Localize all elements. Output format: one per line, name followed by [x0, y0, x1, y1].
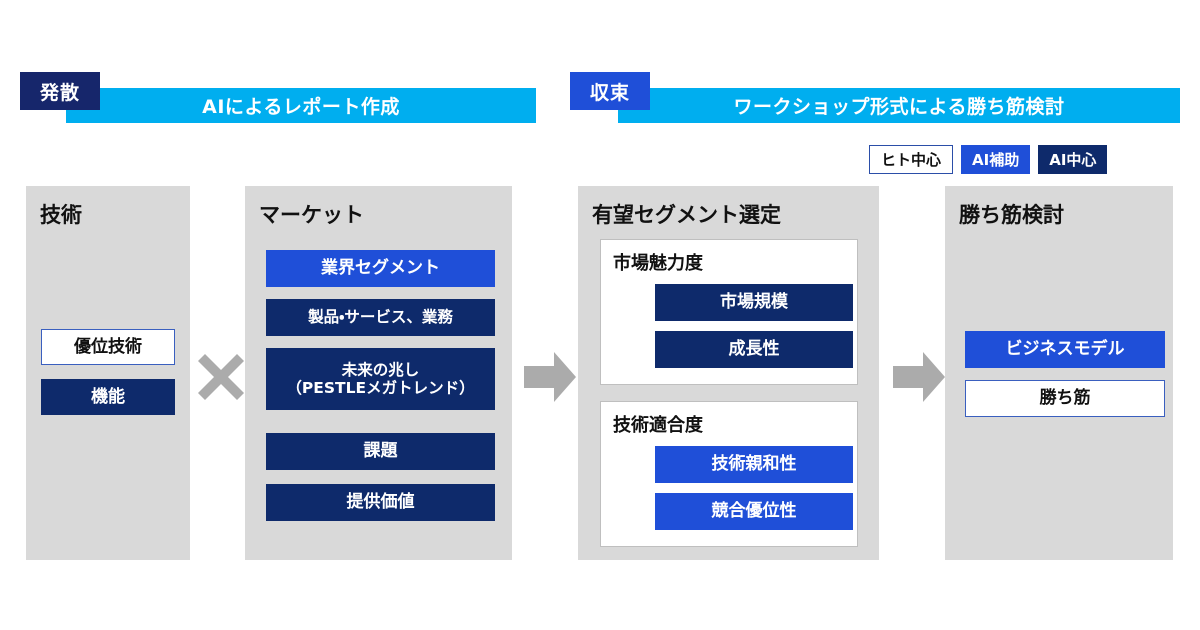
item-market-attractiveness-0-label: 市場規模 — [720, 292, 788, 312]
item-winning-strategy-0: ビジネスモデル — [965, 331, 1165, 368]
item-market-attractiveness-1: 成長性 — [655, 331, 853, 368]
item-winning-strategy-1: 勝ち筋 — [965, 380, 1165, 417]
item-market-2: 未来の兆し （PESTLEメガトレンド） — [266, 348, 495, 410]
item-market-1: 製品・サービス、業務 — [266, 299, 495, 336]
arrow-right-icon-1 — [524, 350, 576, 404]
item-technology-1-label: 機能 — [91, 387, 125, 407]
legend-item-ai-assist: AI補助 — [961, 145, 1030, 174]
column-market-title: マーケット — [259, 199, 364, 229]
item-market-attractiveness-0: 市場規模 — [655, 284, 853, 321]
subpanel-market-attractiveness: 市場魅力度 市場規模 成長性 — [600, 239, 858, 385]
item-market-2-label: 未来の兆し （PESTLEメガトレンド） — [286, 361, 474, 398]
item-market-3-label: 課題 — [364, 441, 398, 461]
item-market-1-label: 製品・サービス、業務 — [308, 308, 453, 326]
legend-item-ai-center-label: AI中心 — [1049, 149, 1096, 170]
subpanel-technology-fit-title: 技術適合度 — [613, 411, 703, 437]
item-winning-strategy-0-label: ビジネスモデル — [1006, 339, 1125, 359]
legend-item-ai-center: AI中心 — [1038, 145, 1107, 174]
column-segment-selection-title: 有望セグメント選定 — [592, 199, 781, 229]
column-segment-selection: 有望セグメント選定 市場魅力度 市場規模 成長性 技術適合度 技術親和性 競合優… — [578, 186, 879, 560]
item-market-attractiveness-1-label: 成長性 — [729, 339, 780, 359]
phase-bar-converge: ワークショップ形式による勝ち筋検討 — [618, 88, 1180, 123]
item-technology-fit-1-label: 競合優位性 — [712, 501, 797, 521]
phase-bar-diverge: AIによるレポート作成 — [66, 88, 536, 123]
item-technology-fit-1: 競合優位性 — [655, 493, 853, 530]
legend: ヒト中心 AI補助 AI中心 — [869, 145, 1107, 174]
column-winning-strategy-title: 勝ち筋検討 — [959, 199, 1064, 229]
column-winning-strategy: 勝ち筋検討 ビジネスモデル 勝ち筋 — [945, 186, 1173, 560]
legend-item-ai-assist-label: AI補助 — [972, 149, 1019, 170]
subpanel-technology-fit: 技術適合度 技術親和性 競合優位性 — [600, 401, 858, 547]
column-technology: 技術 優位技術 機能 — [26, 186, 190, 560]
item-technology-fit-0: 技術親和性 — [655, 446, 853, 483]
legend-item-human-label: ヒト中心 — [881, 149, 941, 170]
item-market-0-label: 業界セグメント — [321, 258, 440, 278]
phase-tag-diverge: 発散 — [20, 72, 100, 110]
column-market: マーケット 業界セグメント 製品・サービス、業務 未来の兆し （PESTLEメガ… — [245, 186, 512, 560]
item-market-3: 課題 — [266, 433, 495, 470]
item-technology-1: 機能 — [41, 379, 175, 415]
phase-tag-converge: 収束 — [570, 72, 650, 110]
diagram-canvas: AIによるレポート作成 発散 ワークショップ形式による勝ち筋検討 収束 ヒト中心… — [0, 0, 1200, 630]
phase-tag-diverge-label: 発散 — [40, 78, 80, 105]
item-market-4: 提供価値 — [266, 484, 495, 521]
phase-tag-converge-label: 収束 — [590, 78, 630, 105]
item-market-0: 業界セグメント — [266, 250, 495, 287]
column-technology-title: 技術 — [40, 199, 82, 229]
phase-bar-converge-label: ワークショップ形式による勝ち筋検討 — [734, 92, 1065, 119]
phase-bar-diverge-label: AIによるレポート作成 — [202, 92, 400, 119]
multiply-icon — [196, 352, 246, 402]
legend-item-human: ヒト中心 — [869, 145, 953, 174]
subpanel-market-attractiveness-title: 市場魅力度 — [613, 249, 703, 275]
item-technology-fit-0-label: 技術親和性 — [712, 454, 797, 474]
arrow-right-icon-2 — [893, 350, 945, 404]
item-technology-0: 優位技術 — [41, 329, 175, 365]
item-market-4-label: 提供価値 — [347, 492, 415, 512]
item-technology-0-label: 優位技術 — [74, 337, 142, 357]
item-winning-strategy-1-label: 勝ち筋 — [1040, 388, 1091, 408]
